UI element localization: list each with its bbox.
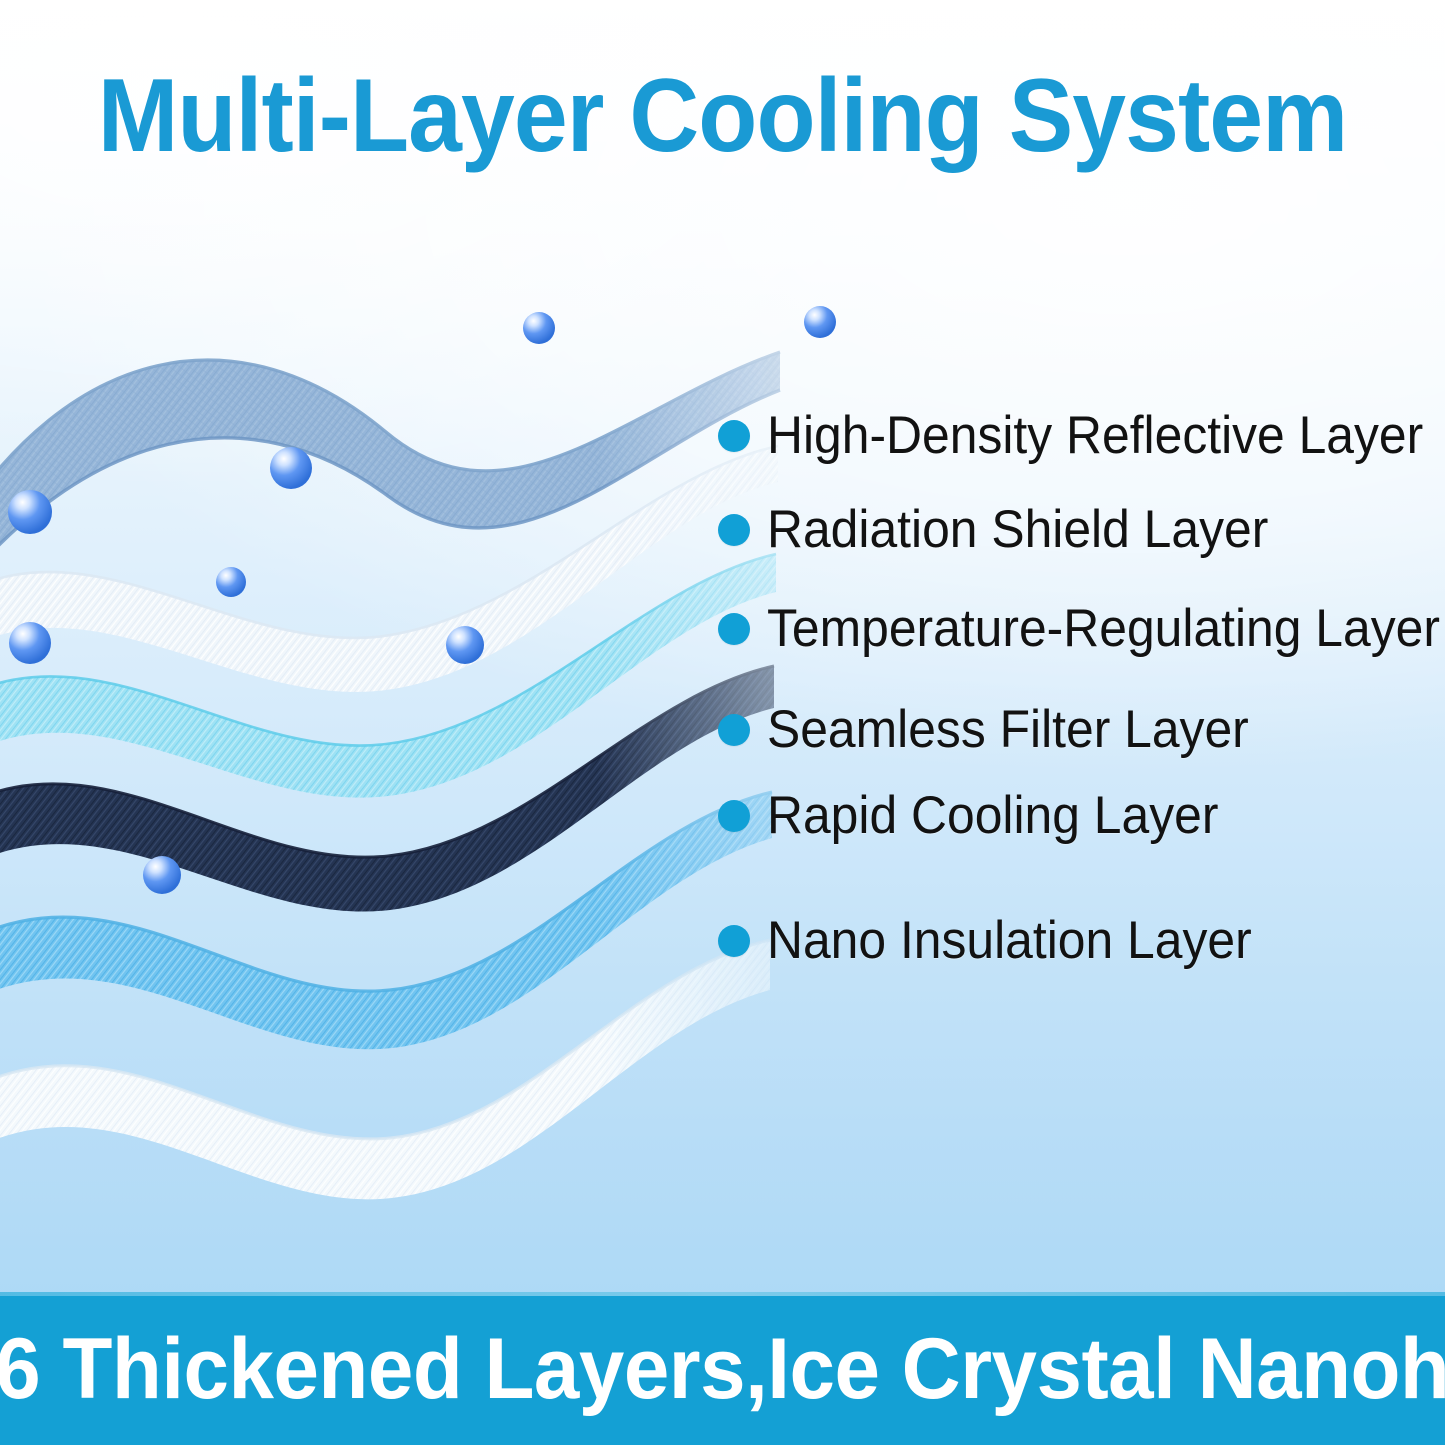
bullet-dot-icon [718,613,750,645]
list-item-label: Nano Insulation Layer [767,913,1252,969]
bullet-dot-icon [718,514,750,546]
list-item[interactable]: Temperature-Regulating Layer [718,601,1445,657]
water-bead-icon [446,626,484,664]
list-item-label: High-Density Reflective Layer [767,408,1423,464]
layer-shape-high-density-reflective [0,352,780,600]
bullet-dot-icon [718,420,750,452]
list-item[interactable]: Radiation Shield Layer [718,502,1300,558]
water-bead-icon [216,567,246,597]
bullet-dot-icon [718,925,750,957]
list-item-label: Seamless Filter Layer [767,702,1249,758]
water-bead-icon [143,856,181,894]
list-item-label: Temperature-Regulating Layer [767,601,1440,657]
water-bead-icon [9,622,51,664]
list-item[interactable]: High-Density Reflective Layer [718,408,1445,464]
water-bead-icon [8,490,52,534]
list-item[interactable]: Seamless Filter Layer [718,702,1280,758]
list-item[interactable]: Nano Insulation Layer [718,913,1283,969]
water-bead-icon [270,447,312,489]
list-item-label: Rapid Cooling Layer [767,788,1218,844]
water-bead-icon [523,312,555,344]
bullet-dot-icon [718,714,750,746]
fabric-layer-illustration [0,300,790,1230]
banner-top-edge [0,1292,1445,1296]
list-item[interactable]: Rapid Cooling Layer [718,788,1247,844]
banner-text: 6 Thickened Layers,Ice Crystal Nanoh [0,1323,1445,1415]
bottom-banner: 6 Thickened Layers,Ice Crystal Nanoh [0,1292,1445,1445]
water-bead-icon [804,306,836,338]
layer-label-list: High-Density Reflective Layer Radiation … [718,392,1445,972]
bullet-dot-icon [718,800,750,832]
page-title: Multi-Layer Cooling System [51,60,1395,172]
list-item-label: Radiation Shield Layer [767,502,1268,558]
product-feature-poster: Multi-Layer Cooling System [0,0,1445,1445]
